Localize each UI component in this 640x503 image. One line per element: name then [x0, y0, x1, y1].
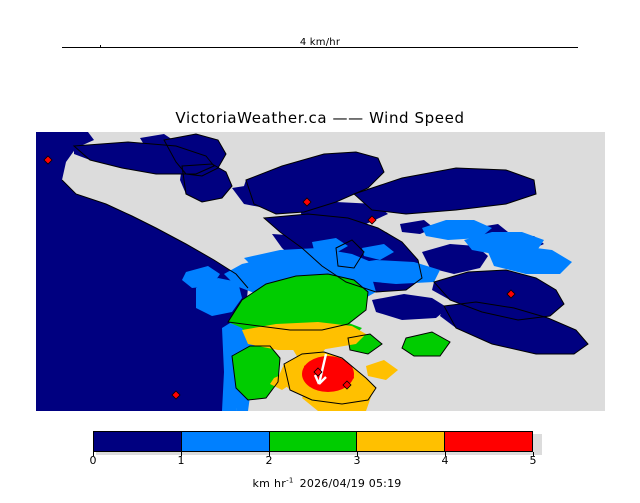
colorbar-segment-2-3[interactable] [270, 432, 358, 451]
colorbar[interactable] [93, 431, 533, 452]
page-title: VictoriaWeather.ca —— Wind Speed [0, 109, 640, 127]
colorbar-segment-4-5[interactable] [445, 432, 532, 451]
weather-map-page: 4 km/hr VictoriaWeather.ca —— Wind Speed [0, 0, 640, 480]
colorbar-axis-label: km hr-12026/04/19 05:19 [0, 461, 640, 503]
timestamp-label: 2026/04/19 05:19 [300, 477, 402, 490]
colorbar-segment-1-2[interactable] [182, 432, 270, 451]
colorbar-legend: 012345 [93, 431, 542, 453]
colorbar-units-label: km hr-1 [253, 477, 294, 490]
map-panel[interactable] [36, 132, 605, 411]
wind-speed-map[interactable] [36, 132, 605, 411]
colorbar-segment-3-4[interactable] [357, 432, 445, 451]
colorbar-units-exponent: -1 [286, 476, 294, 484]
wind-vector-scale-label: 4 km/hr [0, 37, 640, 48]
colorbar-segment-0-1[interactable] [94, 432, 182, 451]
